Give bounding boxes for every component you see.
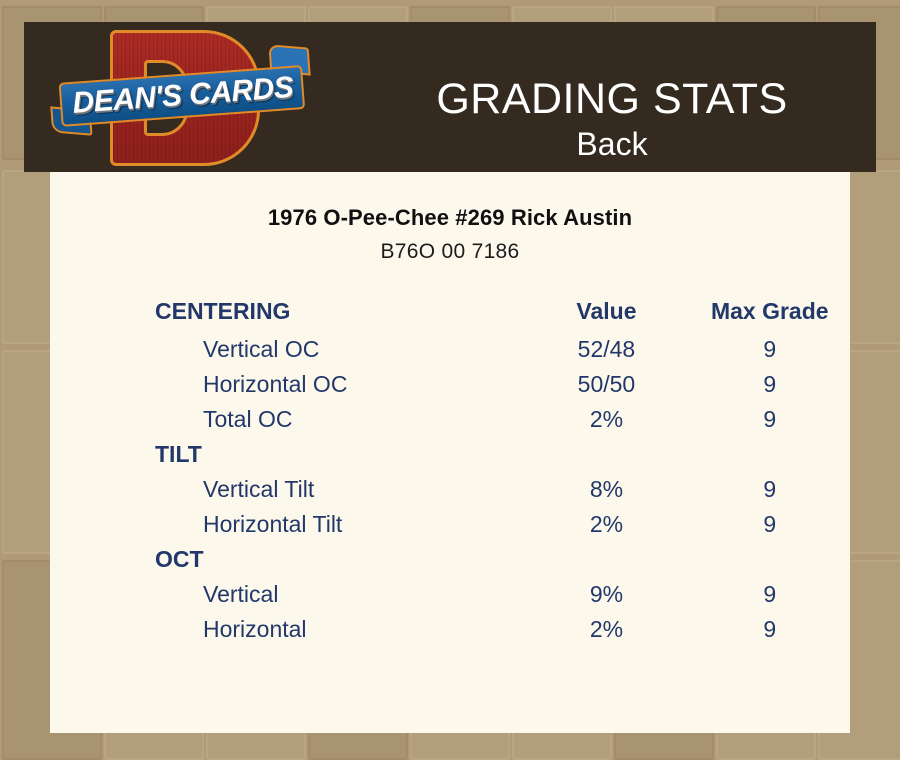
column-header-value: Value bbox=[523, 298, 689, 336]
stat-max-grade: 9 bbox=[690, 476, 851, 511]
stat-max-grade: 9 bbox=[690, 406, 851, 441]
stat-label: Horizontal Tilt bbox=[50, 511, 523, 546]
stat-max-grade: 9 bbox=[690, 336, 851, 371]
stat-value: 9% bbox=[523, 581, 689, 616]
stat-label: Horizontal bbox=[50, 616, 523, 651]
content-panel: 1976 O-Pee-Chee #269 Rick Austin B76O 00… bbox=[50, 172, 850, 733]
table-row: Vertical9%9 bbox=[50, 581, 850, 616]
stat-label: Horizontal OC bbox=[50, 371, 523, 406]
stat-label: Vertical bbox=[50, 581, 523, 616]
stat-label: Vertical OC bbox=[50, 336, 523, 371]
column-header-attribute: CENTERING bbox=[50, 298, 523, 336]
header-bar: DEAN'S CARDS GRADING STATS Back bbox=[24, 22, 876, 172]
section-grade-spacer bbox=[690, 441, 851, 476]
stat-value: 2% bbox=[523, 511, 689, 546]
table-row: Total OC2%9 bbox=[50, 406, 850, 441]
stat-label: Total OC bbox=[50, 406, 523, 441]
stat-label: Vertical Tilt bbox=[50, 476, 523, 511]
table-row: Horizontal OC50/509 bbox=[50, 371, 850, 406]
stat-max-grade: 9 bbox=[690, 581, 851, 616]
section-heading: OCT bbox=[50, 546, 523, 581]
stat-max-grade: 9 bbox=[690, 616, 851, 651]
table-row: Vertical OC52/489 bbox=[50, 336, 850, 371]
table-row: Vertical Tilt8%9 bbox=[50, 476, 850, 511]
page-subtitle: Back bbox=[576, 128, 647, 162]
card-code: B76O 00 7186 bbox=[50, 240, 850, 264]
column-header-max-grade: Max Grade bbox=[690, 298, 851, 336]
stat-value: 52/48 bbox=[523, 336, 689, 371]
section-heading-row: TILT bbox=[50, 441, 850, 476]
grading-stats-table: CENTERINGValueMax GradeVertical OC52/489… bbox=[50, 298, 850, 651]
stat-max-grade: 9 bbox=[690, 511, 851, 546]
header-title-group: GRADING STATS Back bbox=[324, 44, 900, 194]
stat-value: 50/50 bbox=[523, 371, 689, 406]
section-heading: TILT bbox=[50, 441, 523, 476]
logo-ribbon: DEAN'S CARDS bbox=[48, 60, 313, 135]
table-row: Horizontal Tilt2%9 bbox=[50, 511, 850, 546]
table-header-row: CENTERINGValueMax Grade bbox=[50, 298, 850, 336]
section-grade-spacer bbox=[690, 546, 851, 581]
stat-max-grade: 9 bbox=[690, 371, 851, 406]
stat-value: 2% bbox=[523, 406, 689, 441]
stat-value: 8% bbox=[523, 476, 689, 511]
deans-cards-logo[interactable]: DEAN'S CARDS bbox=[48, 26, 314, 168]
section-heading-row: OCT bbox=[50, 546, 850, 581]
card-name: 1976 O-Pee-Chee #269 Rick Austin bbox=[50, 205, 850, 231]
table-row: Horizontal2%9 bbox=[50, 616, 850, 651]
page-title: GRADING STATS bbox=[436, 77, 787, 122]
stat-value: 2% bbox=[523, 616, 689, 651]
section-value-spacer bbox=[523, 546, 689, 581]
section-value-spacer bbox=[523, 441, 689, 476]
